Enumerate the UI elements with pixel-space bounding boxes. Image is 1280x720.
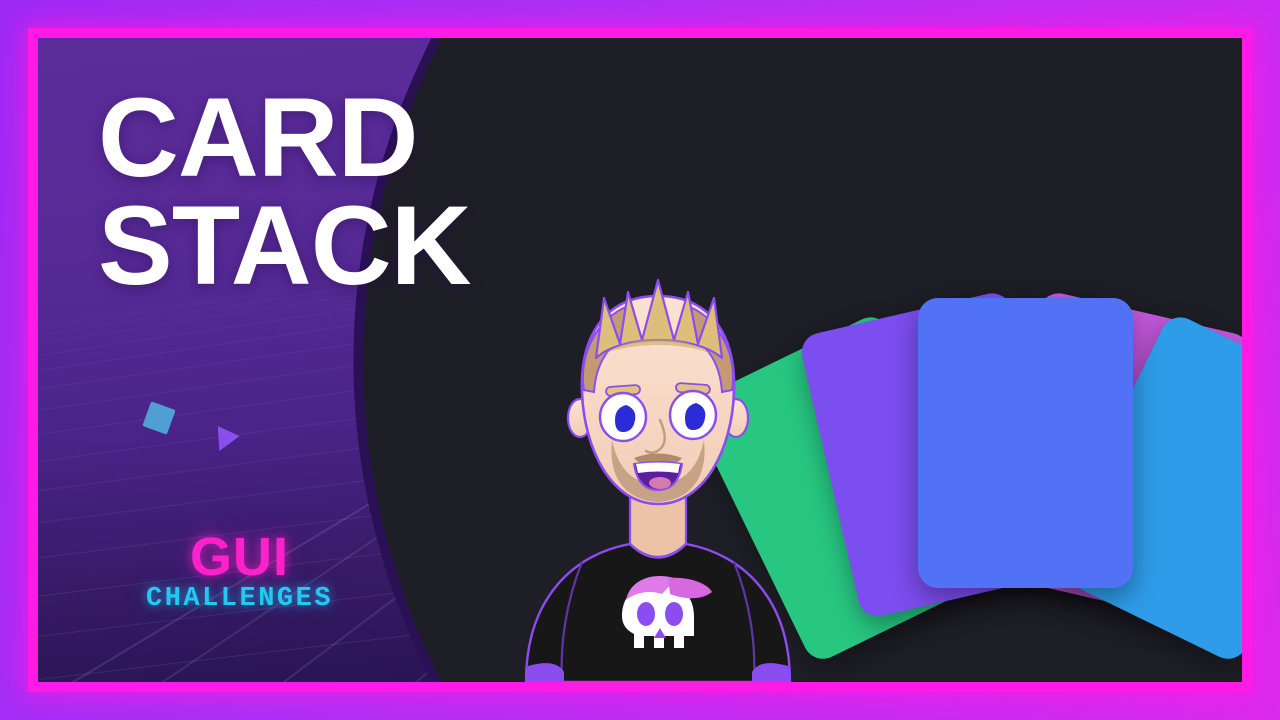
stage: CARD STACK GUI CHALLENGES bbox=[38, 38, 1242, 682]
logo-secondary-text: CHALLENGES bbox=[146, 584, 333, 614]
host-avatar-illustration bbox=[508, 262, 808, 682]
logo-primary-text: GUI bbox=[146, 533, 333, 582]
page-title: CARD STACK bbox=[98, 84, 470, 299]
card-front[interactable] bbox=[918, 298, 1133, 588]
thumbnail-canvas: CARD STACK GUI CHALLENGES bbox=[0, 0, 1280, 720]
host-avatar bbox=[508, 262, 808, 682]
blue-square bbox=[142, 401, 175, 434]
title-line-2: STACK bbox=[98, 192, 470, 300]
title-line-1: CARD bbox=[98, 84, 470, 192]
fanned-card-stack bbox=[808, 278, 1242, 638]
purple-triangle-top bbox=[208, 426, 239, 456]
gui-challenges-logo: GUI CHALLENGES bbox=[146, 533, 333, 614]
